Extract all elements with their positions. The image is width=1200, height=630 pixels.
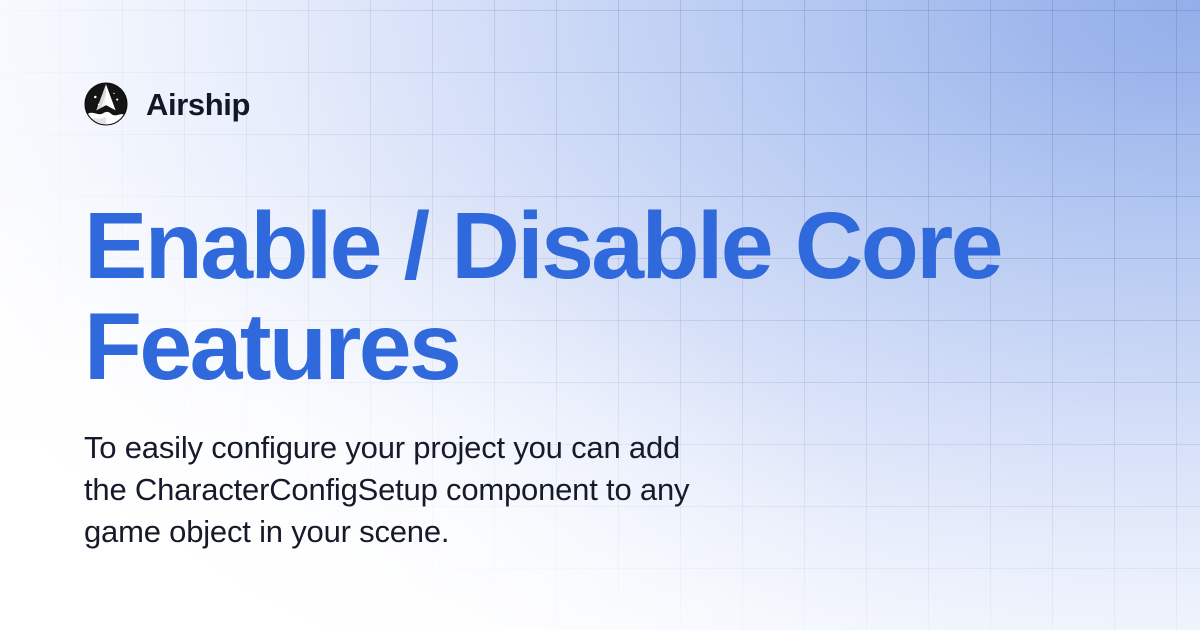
airship-paper-plane-globe-icon [84,82,128,126]
page-description-line-3: game object in your scene. [84,511,884,553]
page-title-line-2: Features [84,294,459,400]
page-description-line-1: To easily configure your project you can… [84,427,884,469]
page-description-line-2: the CharacterConfigSetup component to an… [84,469,884,511]
page-title-line-1: Enable / Disable Core [84,193,1001,299]
card-content: Airship Enable / Disable Core Features T… [0,0,1200,630]
brand-name: Airship [146,89,250,120]
page-title: Enable / Disable Core Features [84,196,1094,398]
page-description: To easily configure your project you can… [84,427,884,553]
brand-lockup: Airship [84,82,250,126]
og-card: Airship Enable / Disable Core Features T… [0,0,1200,630]
